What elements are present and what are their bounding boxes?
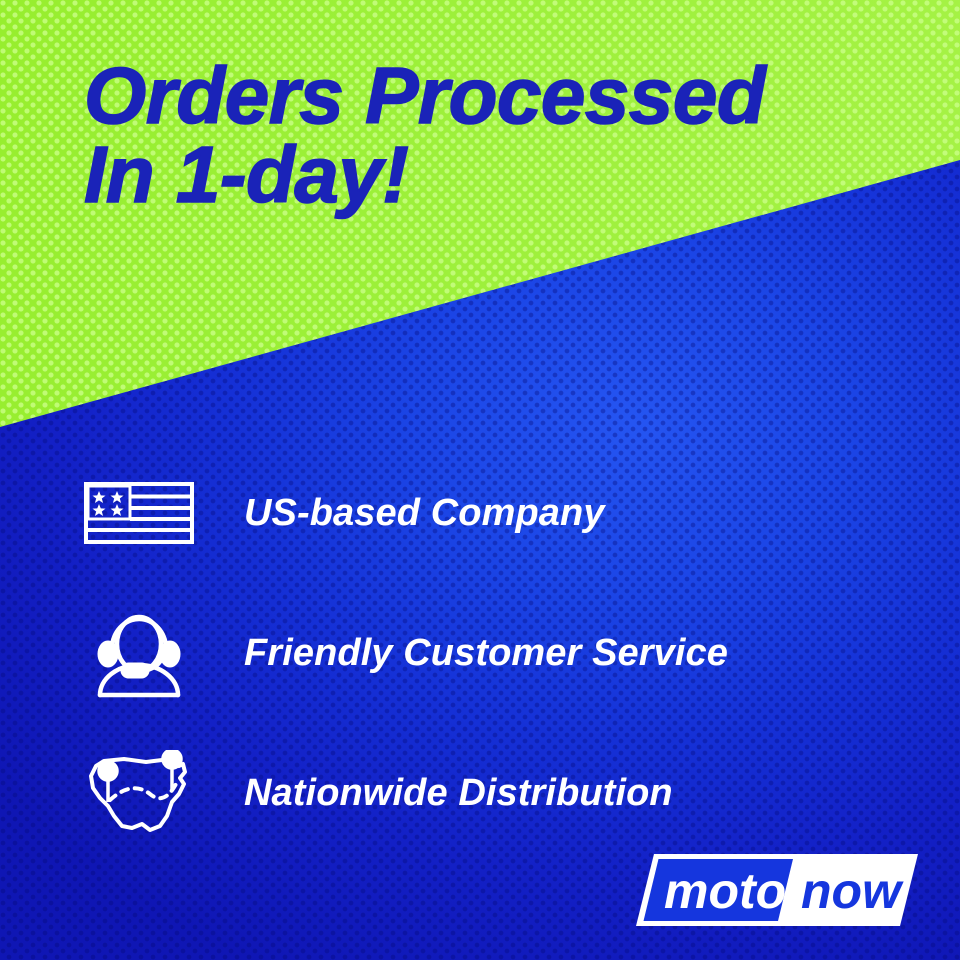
feature-label: US-based Company bbox=[244, 492, 605, 535]
headline: Orders Processed In 1-day! bbox=[84, 56, 914, 214]
logo-text-now: now bbox=[801, 863, 904, 919]
motonow-logo: moto now bbox=[636, 854, 918, 926]
headset-person-icon bbox=[78, 607, 200, 699]
logo-text-moto: moto bbox=[664, 863, 786, 919]
us-map-pins-icon bbox=[78, 750, 200, 836]
us-flag-icon bbox=[78, 482, 200, 544]
feature-row-nationwide: Nationwide Distribution bbox=[78, 723, 908, 863]
feature-row-us-based: US-based Company bbox=[78, 443, 908, 583]
promo-banner: Orders Processed In 1-day! bbox=[0, 0, 960, 960]
feature-list: US-based Company bbox=[78, 443, 908, 863]
feature-row-customer-service: Friendly Customer Service bbox=[78, 583, 908, 723]
feature-label: Nationwide Distribution bbox=[244, 772, 673, 815]
feature-label: Friendly Customer Service bbox=[244, 632, 728, 675]
